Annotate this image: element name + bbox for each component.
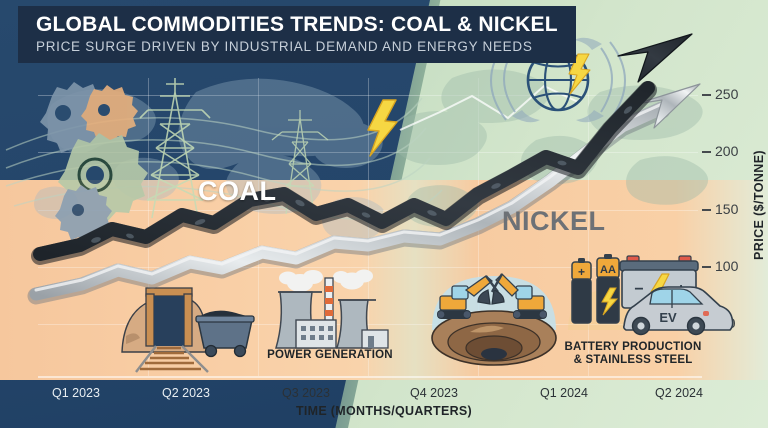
series-nickel-line (36, 84, 700, 296)
title-band: GLOBAL COMMODITIES TRENDS: COAL & NICKEL… (18, 6, 576, 63)
caption-power-generation: POWER GENERATION (245, 349, 415, 362)
caption-battery-steel: BATTERY PRODUCTION& STAINLESS STEEL (548, 341, 718, 367)
series-label-nickel: NICKEL (502, 206, 606, 237)
page-subtitle: PRICE SURGE DRIVEN BY INDUSTRIAL DEMAND … (36, 39, 558, 54)
page-title: GLOBAL COMMODITIES TRENDS: COAL & NICKEL (36, 13, 558, 37)
infographic-chart: + AA − + (0, 0, 768, 428)
series-label-coal: COAL (198, 176, 277, 207)
